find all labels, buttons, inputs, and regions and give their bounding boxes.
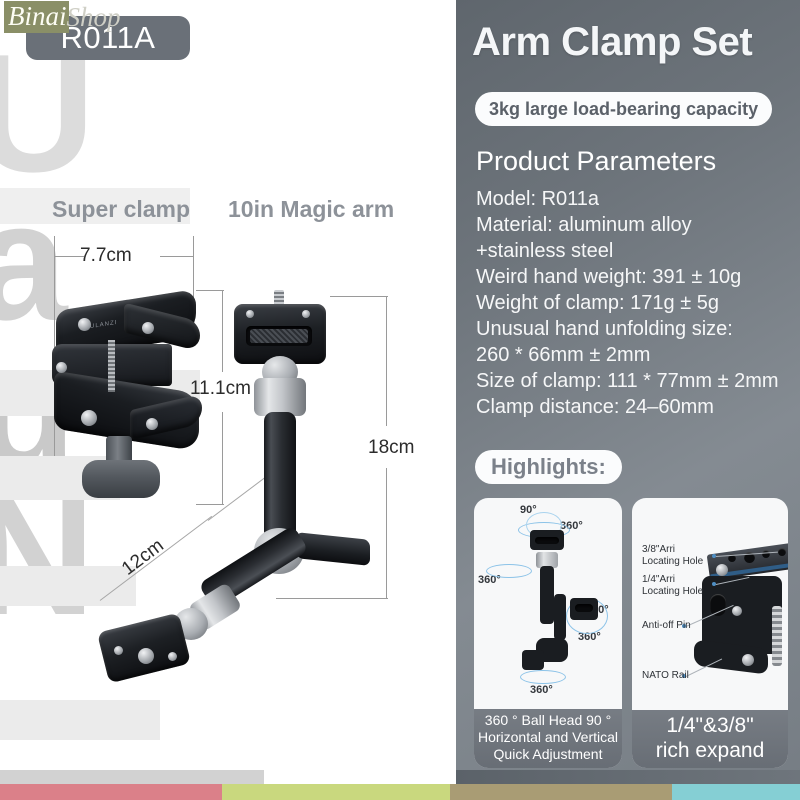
parameter-row: Weird hand weight: 391 ± 10g (476, 264, 800, 290)
rotation-ellipse-left (486, 564, 532, 578)
prestrip-right (456, 770, 800, 784)
prestrip-left (0, 770, 264, 784)
watermark-brand-first: Binai (4, 1, 69, 33)
arm-bottom-rivet (114, 646, 123, 655)
angle-label-360-bottom: 360° (530, 684, 553, 696)
mini-arm-tube (540, 566, 554, 624)
parameter-row: Material: aluminum alloy (476, 212, 800, 238)
product-marketing-image: U a u N R011A Binai Shop Super clamp 10i… (0, 0, 800, 800)
spring-art (772, 606, 782, 666)
mini-arm-second-tube (554, 594, 566, 640)
measure-line (160, 256, 193, 257)
product-title: Arm Clamp Set (472, 20, 752, 65)
highlight-card-mounting: 3/8"Arri Locating Hole 1/4"Arri Locating… (632, 498, 788, 768)
mini-arm-plate-slot (535, 537, 559, 544)
parameter-row: Unusual hand unfolding size: (476, 316, 800, 342)
arm-plate-rivet (246, 310, 254, 318)
left-product-panel: U a u N R011A Binai Shop Super clamp 10i… (0, 0, 456, 786)
ghost-letter: U (0, 40, 124, 188)
dimension-width: 7.7cm (80, 245, 132, 267)
arm-bottom-screw (138, 648, 154, 664)
color-strip-segment (672, 784, 800, 800)
caption-super-clamp: Super clamp (52, 196, 190, 223)
highlight-card-caption: 1/4"&3/8" rich expand (632, 710, 788, 768)
highlight-card-caption: 360 ° Ball Head 90 ° Horizontal and Vert… (474, 709, 622, 768)
parameter-row: Model: R011a (476, 186, 800, 212)
parameter-row: +stainless steel (476, 238, 800, 264)
shop-watermark: Binai Shop (4, 2, 121, 32)
pin-rivet (732, 606, 742, 616)
right-info-panel: Arm Clamp Set 3kg large load-bearing cap… (456, 0, 800, 786)
arm-lock-lever (296, 532, 370, 566)
mini-arm-bottom-plate (522, 650, 544, 670)
arm-bottom-rivet (168, 652, 177, 661)
parameter-row: Clamp distance: 24–60mm (476, 394, 800, 420)
jaw-rivet (742, 654, 754, 666)
clamp-knob (82, 460, 160, 498)
rail-screw (716, 564, 728, 576)
caption-magic-arm: 10in Magic arm (228, 196, 394, 223)
arri-hole (762, 550, 770, 558)
callout-label-arri-38: 3/8"Arri Locating Hole (642, 544, 703, 568)
pre-strip-band (0, 770, 800, 784)
parameters-heading: Product Parameters (476, 146, 716, 177)
color-strip-segment (0, 784, 222, 800)
capacity-badge-label: 3kg large load-bearing capacity (489, 99, 758, 120)
callout-label-anti-off-pin: Anti-off Pin (642, 620, 691, 632)
arm-upper-tube (264, 412, 296, 540)
clamp-rivet (78, 318, 91, 331)
bottom-color-strip (0, 784, 800, 800)
capacity-badge: 3kg large load-bearing capacity (475, 92, 772, 126)
color-strip-segment (450, 784, 672, 800)
highlights-badge: Highlights: (475, 450, 622, 484)
highlights-badge-label: Highlights: (491, 454, 606, 480)
arri-hole (778, 548, 786, 556)
color-strip-segment (222, 784, 450, 800)
magic-arm-product-image (150, 290, 430, 700)
parameter-row: 260 * 66mm ± 2mm (476, 342, 800, 368)
arm-plate-grip (250, 329, 308, 343)
decor-band (0, 566, 136, 606)
watermark-brand-second: Shop (67, 2, 121, 32)
decor-band (0, 700, 160, 740)
arm-plate-rivet (302, 310, 310, 318)
rotation-ellipse-bottom (520, 670, 566, 684)
parameter-row: Size of clamp: 111 * 77mm ± 2mm (476, 368, 800, 394)
clamp-screw (108, 340, 115, 392)
callout-label-arri-14: 1/4"Arri Locating Hole (642, 574, 703, 598)
callout-label-nato-rail: NATO Rail (642, 670, 689, 682)
parameter-row: Weight of clamp: 171g ± 5g (476, 290, 800, 316)
mini-arm-side-slot (575, 604, 593, 612)
highlight-card-ball-head: 90° 360° 360° 90° 360° 360° 360 ° Ball H… (474, 498, 622, 768)
arm-upper-collar (254, 378, 306, 416)
clamp-rivet (81, 410, 97, 426)
clamp-rivet (56, 362, 67, 373)
parameters-list: Model: R011a Material: aluminum alloy +s… (476, 186, 800, 420)
